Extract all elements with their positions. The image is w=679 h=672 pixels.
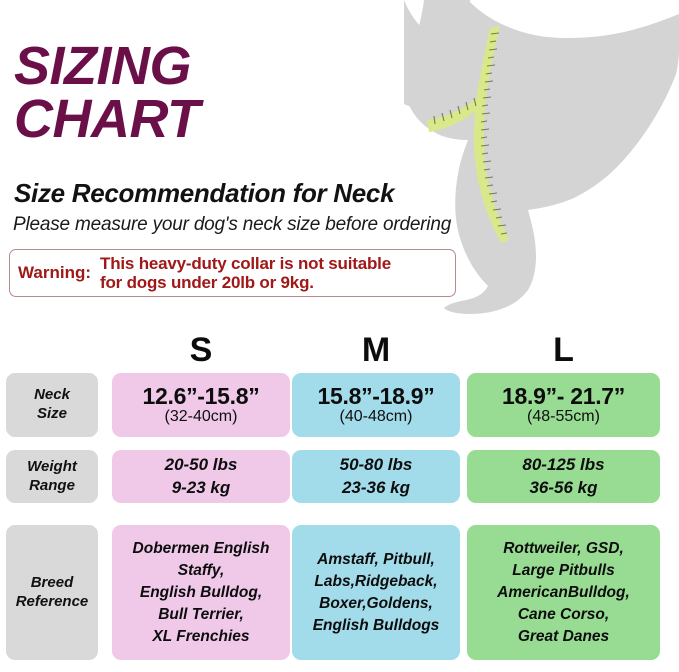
neck-size-large-inches: 18.9”- 21.7” xyxy=(502,384,625,408)
size-header-row: S M L xyxy=(0,333,679,369)
cell-weight-range-medium: 50-80 lbs 23-36 kg xyxy=(292,450,460,503)
neck-size-medium-inches: 15.8”-18.9” xyxy=(318,384,435,408)
row-label-neck-line-1: Neck xyxy=(34,386,70,403)
breed-medium-line-3: Boxer,Goldens, xyxy=(313,593,440,615)
weight-medium-lbs: 50-80 lbs xyxy=(340,454,413,476)
breed-small-line-2: Staffy, xyxy=(133,560,270,582)
weight-large-kg: 36-56 kg xyxy=(522,477,604,499)
row-label-breed-line-1: Breed xyxy=(31,574,74,591)
cell-neck-size-small: 12.6”-15.8” (32-40cm) xyxy=(112,373,290,437)
title-line-2: CHART xyxy=(14,93,484,146)
size-header-s: S xyxy=(112,333,290,367)
breed-small-line-4: Bull Terrier, xyxy=(133,604,270,626)
breed-small-line-5: XL Frenchies xyxy=(133,626,270,648)
row-label-weight-line-1: Weight xyxy=(27,458,77,475)
cell-neck-size-medium: 15.8”-18.9” (40-48cm) xyxy=(292,373,460,437)
weight-small-kg: 9-23 kg xyxy=(165,477,238,499)
warning-box: Warning: This heavy-duty collar is not s… xyxy=(9,249,456,297)
title-line-1: SIZING xyxy=(14,40,484,93)
row-label-breed-line-2: Reference xyxy=(16,593,89,610)
warning-label: Warning: xyxy=(10,263,100,283)
row-label-breed-reference: Breed Reference xyxy=(6,525,98,660)
weight-medium-kg: 23-36 kg xyxy=(340,477,413,499)
breed-large-line-1: Rottweiler, GSD, xyxy=(497,538,630,560)
weight-small-lbs: 20-50 lbs xyxy=(165,454,238,476)
breed-large-line-5: Great Danes xyxy=(497,626,630,648)
neck-size-medium-cm: (40-48cm) xyxy=(318,408,435,426)
row-label-weight-range: Weight Range xyxy=(6,450,98,503)
row-label-weight-line-2: Range xyxy=(29,477,75,494)
weight-large-lbs: 80-125 lbs xyxy=(522,454,604,476)
breed-medium-line-1: Amstaff, Pitbull, xyxy=(313,549,440,571)
warning-message: This heavy-duty collar is not suitable f… xyxy=(100,254,391,292)
row-label-neck-size: Neck Size xyxy=(6,373,98,437)
neck-size-small-cm: (32-40cm) xyxy=(143,408,260,426)
neck-size-small-inches: 12.6”-15.8” xyxy=(143,384,260,408)
size-header-l: L xyxy=(467,333,660,367)
cell-neck-size-large: 18.9”- 21.7” (48-55cm) xyxy=(467,373,660,437)
size-header-m: M xyxy=(292,333,460,367)
row-label-neck-line-2: Size xyxy=(37,405,67,422)
breed-small-line-3: English Bulldog, xyxy=(133,582,270,604)
page-title: SIZING CHART xyxy=(14,40,484,146)
cell-weight-range-large: 80-125 lbs 36-56 kg xyxy=(467,450,660,503)
breed-medium-line-4: English Bulldogs xyxy=(313,615,440,637)
instruction-text: Please measure your dog's neck size befo… xyxy=(13,214,451,236)
warning-line-1: This heavy-duty collar is not suitable xyxy=(100,254,391,273)
cell-weight-range-small: 20-50 lbs 9-23 kg xyxy=(112,450,290,503)
warning-line-2: for dogs under 20lb or 9kg. xyxy=(100,273,391,292)
cell-breed-small: Dobermen English Staffy, English Bulldog… xyxy=(112,525,290,660)
sizing-table: Neck Size 12.6”-15.8” (32-40cm) 15.8”-18… xyxy=(0,370,679,670)
neck-size-large-cm: (48-55cm) xyxy=(502,408,625,426)
cell-breed-large: Rottweiler, GSD, Large Pitbulls American… xyxy=(467,525,660,660)
breed-large-line-3: AmericanBulldog, xyxy=(497,582,630,604)
cell-breed-medium: Amstaff, Pitbull, Labs,Ridgeback, Boxer,… xyxy=(292,525,460,660)
subtitle: Size Recommendation for Neck xyxy=(14,178,394,209)
breed-medium-line-2: Labs,Ridgeback, xyxy=(313,571,440,593)
breed-large-line-4: Cane Corso, xyxy=(497,604,630,626)
breed-large-line-2: Large Pitbulls xyxy=(497,560,630,582)
breed-small-line-1: Dobermen English xyxy=(133,538,270,560)
